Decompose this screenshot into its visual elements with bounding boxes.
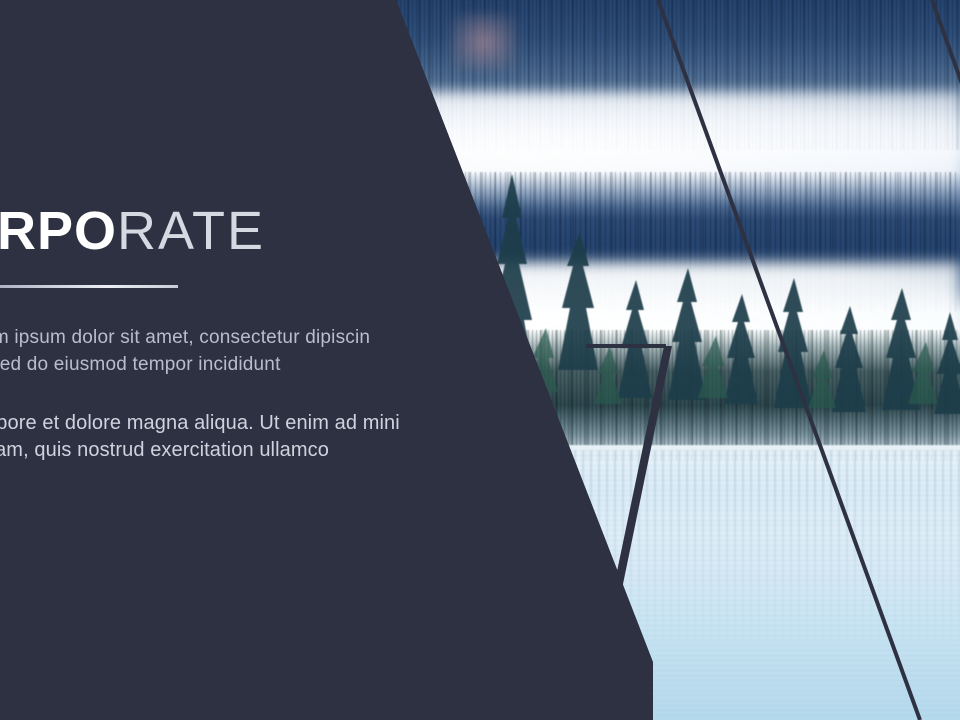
text-content-block: CORPORATE Lorem ipsum dolor sit amet, co…	[0, 0, 420, 720]
title-underline-rule	[0, 285, 178, 288]
title-bold-part: CORPO	[0, 201, 117, 261]
body-paragraph-2: ut labore et dolore magna aliqua. Ut eni…	[0, 410, 400, 464]
photo-warm-highlight	[452, 14, 516, 70]
title-thin-part: RATE	[117, 201, 265, 261]
body-paragraph-1: Lorem ipsum dolor sit amet, consectetur …	[0, 324, 370, 378]
slide-canvas: CORPORATE Lorem ipsum dolor sit amet, co…	[0, 0, 960, 720]
slide-title: CORPORATE	[0, 200, 265, 262]
